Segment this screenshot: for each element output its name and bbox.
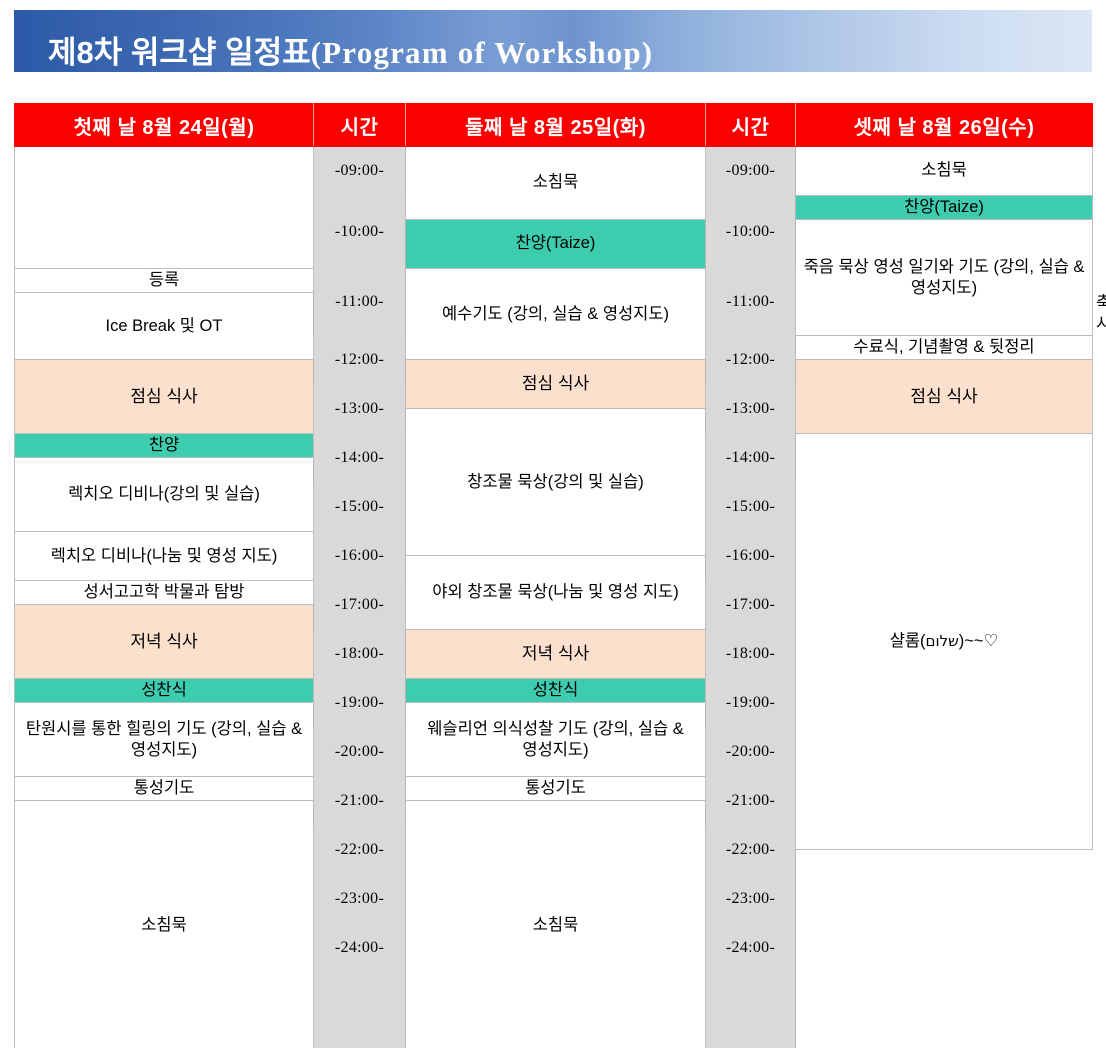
schedule-table: 첫째 날 8월 24일(월) 시간 둘째 날 8월 25일(화) 시간 셋째 날… [14,103,1093,1048]
cell-day1-registration: 등록 [15,269,314,293]
cell-time2-1100: -11:00- [706,269,796,336]
cell-time2-0900: -09:00- [706,147,796,196]
cell-day1-healing-prayer: 탄원시를 통한 힐링의 기도 (강의, 실습 & 영성지도) [15,703,314,777]
cell-time1-2200: -22:00- [314,826,406,875]
cell-time1-2300: -23:00- [314,875,406,924]
cell-day3-closing: 수료식, 기념촬영 & 뒷정리 [796,336,1093,360]
cell-day1-ice-break: Ice Break 및 OT [15,293,314,360]
table-row: -09:00- 소침묵 -09:00- 소침묵 [15,147,1093,171]
cell-time2-2100: -21:00- [706,777,796,826]
cell-day2-quiet-morning: 소침묵 [406,147,706,220]
cell-day1-lectio-2: 렉치오 디비나(나눔 및 영성 지도) [15,532,314,581]
cell-time1-2400: -24:00- [314,924,406,973]
cell-time1-1600: -16:00- [314,532,406,581]
cell-time2-2200: -22:00- [706,826,796,875]
cell-time1-1500: -15:00- [314,483,406,532]
cell-day3-praise-taize: 찬양(Taize) [796,196,1093,220]
cell-day2-outdoor-meditation: 야외 창조물 묵상(나눔 및 영성 지도) [406,556,706,630]
header-day3: 셋째 날 8월 26일(수) [796,104,1093,147]
shalom-prefix: 샬롬( [890,632,926,650]
header-day2: 둘째 날 8월 25일(화) [406,104,706,147]
cell-day1-dinner: 저녁 식사 [15,605,314,679]
cell-day2-quiet: 소침묵 [406,801,706,1048]
cell-time1-1800: -18:00- [314,630,406,679]
cell-day2-praise-taize: 찬양(Taize) [406,220,706,269]
cell-day2-creation-meditation: 창조물 묵상(강의 및 실습) [406,409,706,556]
page-title-korean: 제8차 워크샵 일정표 [48,35,311,70]
page-title-english: (Program of Workshop) [311,35,654,70]
cell-day2-jesus-prayer: 예수기도 (강의, 실습 & 영성지도) [406,269,706,360]
cell-day1-lunch: 점심 식사 [15,360,314,434]
cell-time2-1600: -16:00- [706,532,796,581]
header-time1: 시간 [314,104,406,147]
cell-time1-1000: -10:00- [314,196,406,269]
cell-time2-1000: -10:00- [706,196,796,269]
cell-time2-1900: -19:00- [706,679,796,728]
cell-time2-1200: -12:00- [706,336,796,385]
cell-time2-2000: -20:00- [706,728,796,777]
cell-time2-1300: -13:00- [706,385,796,434]
cell-time2-1400: -14:00- [706,434,796,483]
cell-time1-1100: -11:00- [314,269,406,336]
cell-time1-0900: -09:00- [314,147,406,196]
cell-day2-tongsung: 통성기도 [406,777,706,801]
cell-day2-lunch: 점심 식사 [406,360,706,409]
cell-time1-1700: -17:00- [314,581,406,630]
cell-time1-1400: -14:00- [314,434,406,483]
cell-time2-2300: -23:00- [706,875,796,924]
title-banner: 제8차 워크샵 일정표(Program of Workshop) [14,10,1092,72]
cell-day2-dinner: 저녁 식사 [406,630,706,679]
cell-day2-wesleyan: 웨슬리언 의식성찰 기도 (강의, 실습 & 영성지도) [406,703,706,777]
cell-day3-lunch: 점심 식사 [796,360,1093,434]
shalom-hebrew: שלום [926,632,959,650]
table-row: 점심 식사 점심 식사 점심 식사 [15,360,1093,385]
cell-time1-1900: -19:00- [314,679,406,728]
cell-day3-death-meditation: 죽음 묵상 영성 일기와 기도 (강의, 실습 & 영성지도) [796,220,1093,336]
cell-day1-quiet: 소침묵 [15,801,314,1048]
cell-time1-tail [314,973,406,1048]
cell-time1-1200: -12:00- [314,336,406,385]
page-title: 제8차 워크샵 일정표(Program of Workshop) [48,27,653,72]
schedule-page: 제8차 워크샵 일정표(Program of Workshop) 첫째 날 8월… [0,0,1106,1048]
table-header-row: 첫째 날 8월 24일(월) 시간 둘째 날 8월 25일(화) 시간 셋째 날… [15,104,1093,147]
cell-time2-1800: -18:00- [706,630,796,679]
cell-time2-1500: -15:00- [706,483,796,532]
cell-day1-tongsung: 통성기도 [15,777,314,801]
header-day1: 첫째 날 8월 24일(월) [15,104,314,147]
cell-time1-2000: -20:00- [314,728,406,777]
cell-day3-quiet-morning: 소침묵 [796,147,1093,196]
cell-time2-2400: -24:00- [706,924,796,973]
cell-day3-shalom: 샬롬(שלום)~~♡ [796,434,1093,850]
cell-day2-communion: 성찬식 [406,679,706,703]
cell-time1-1300: -13:00- [314,385,406,434]
cell-day1-empty-morning [15,147,314,269]
cell-day1-praise: 찬양 [15,434,314,458]
cell-day1-communion: 성찬식 [15,679,314,703]
cell-time1-2100: -21:00- [314,777,406,826]
header-time2: 시간 [706,104,796,147]
cell-day1-lectio-1: 렉치오 디비나(강의 및 실습) [15,458,314,532]
cell-time2-tail [706,973,796,1048]
shalom-suffix: )~~♡ [959,632,999,650]
cell-day1-museum: 성서고고학 박물과 탐방 [15,581,314,605]
cell-time2-1700: -17:00- [706,581,796,630]
